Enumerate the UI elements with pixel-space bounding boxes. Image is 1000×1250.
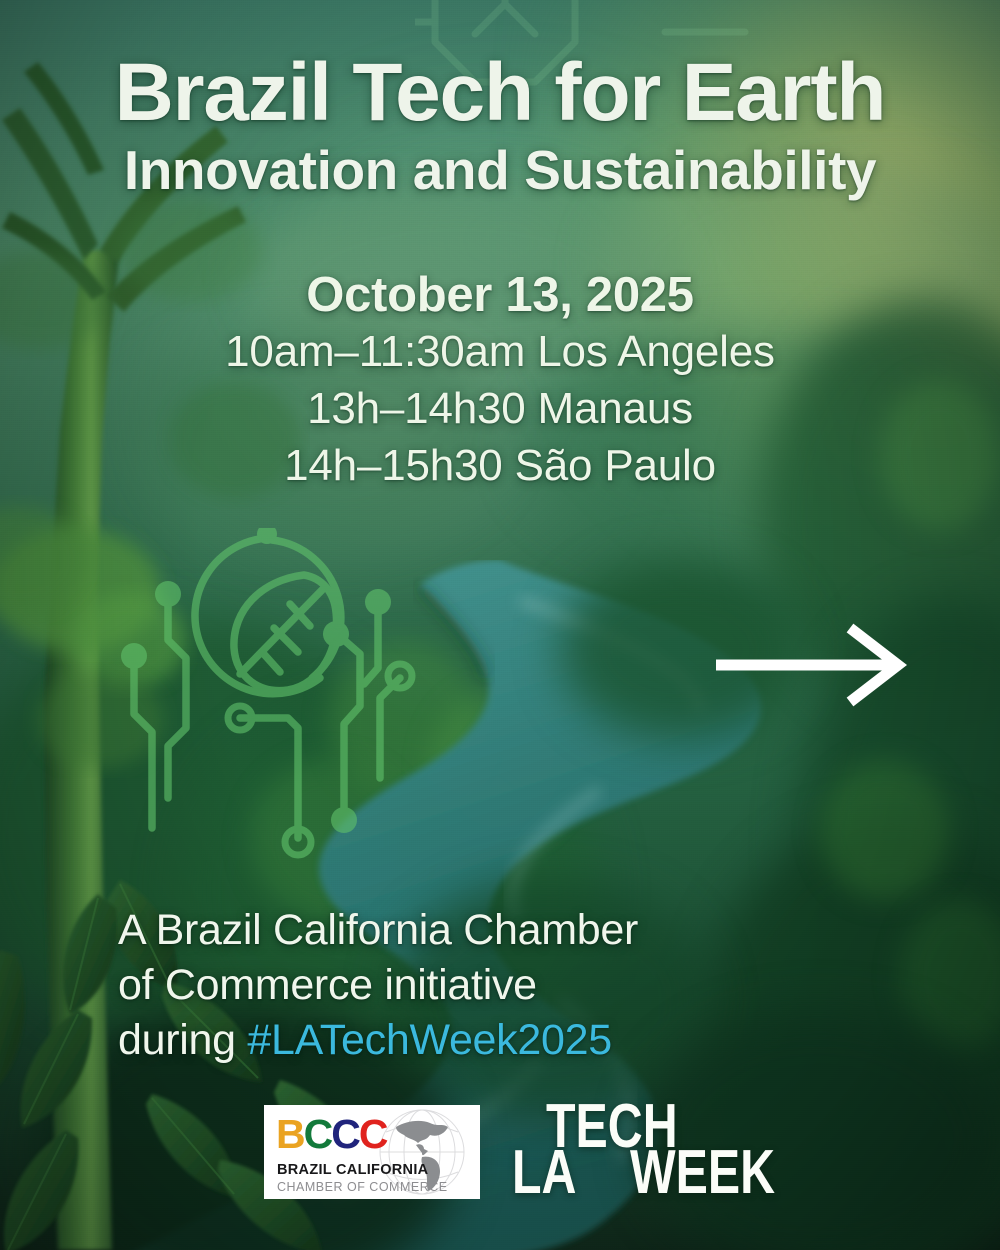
event-time-los-angeles: 10am–11:30am Los Angeles (0, 323, 1000, 380)
bccc-lettermark: BCCC (276, 1114, 386, 1155)
hashtag-latechweek2025[interactable]: #LATechWeek2025 (247, 1016, 611, 1064)
arrow-right-icon[interactable] (712, 622, 908, 708)
initiative-line-2: of Commerce initiative (118, 958, 818, 1013)
la-tech-week-logo[interactable]: TECH LA WEEK (512, 1098, 732, 1210)
bccc-name-line: BRAZIL CALIFORNIA (277, 1162, 428, 1178)
latw-word-week: WEEK (630, 1146, 775, 1199)
page-subtitle: Innovation and Sustainability (0, 142, 1000, 200)
event-time-manaus: 13h–14h30 Manaus (0, 380, 1000, 437)
bccc-tagline: CHAMBER OF COMMERCE (277, 1180, 448, 1194)
initiative-line-3: during #LATechWeek2025 (118, 1013, 818, 1068)
event-schedule: October 13, 2025 10am–11:30am Los Angele… (0, 268, 1000, 494)
initiative-statement: A Brazil California Chamber of Commerce … (118, 903, 818, 1068)
bccc-letter-c3: C (359, 1114, 387, 1155)
page-title: Brazil Tech for Earth (0, 52, 1000, 134)
title-block: Brazil Tech for Earth Innovation and Sus… (0, 52, 1000, 200)
event-poster: Brazil Tech for Earth Innovation and Sus… (0, 0, 1000, 1250)
bccc-letter-c2: C (331, 1114, 359, 1155)
bccc-letter-c1: C (304, 1114, 332, 1155)
bccc-logo[interactable]: BCCC BRAZIL CALIFORNIA CHAMBER OF COMMER… (264, 1105, 480, 1199)
event-date: October 13, 2025 (0, 268, 1000, 323)
poster-content: Brazil Tech for Earth Innovation and Sus… (0, 0, 1000, 1250)
initiative-line-1: A Brazil California Chamber (118, 903, 818, 958)
latw-word-la: LA (512, 1146, 576, 1199)
during-label: during (118, 1016, 247, 1064)
bccc-letter-b: B (276, 1114, 304, 1155)
event-time-sao-paulo: 14h–15h30 São Paulo (0, 437, 1000, 494)
